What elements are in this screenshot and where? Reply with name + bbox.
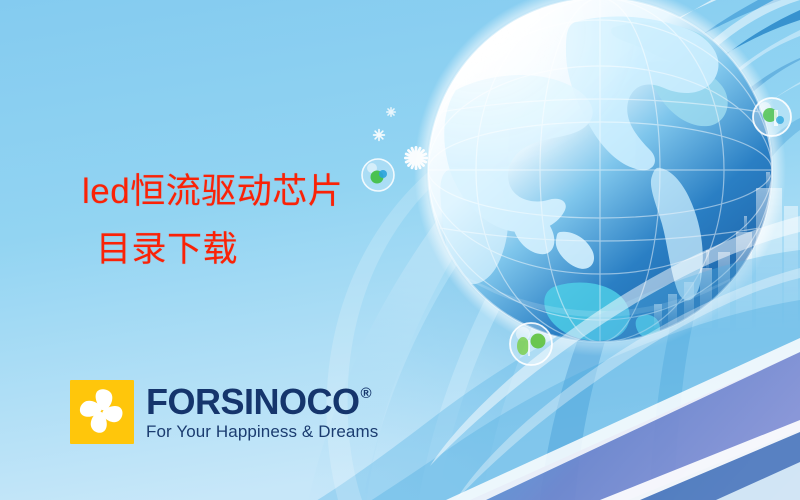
logo-pinwheel-icon: [70, 380, 134, 444]
bubble-globe-left: [362, 159, 394, 191]
brand-name-text: FORSINOCO: [146, 384, 360, 420]
headline-line-1: led恒流驱动芯片: [82, 163, 343, 221]
brand-name: FORSINOCO ®: [146, 384, 378, 420]
registered-trademark-icon: ®: [361, 386, 372, 401]
headline-line-2: 目录下载: [82, 221, 343, 279]
banner-canvas: led恒流驱动芯片 目录下载 FORSINOCO ® For Your Happ…: [0, 0, 800, 500]
company-logo[interactable]: FORSINOCO ® For Your Happiness & Dreams: [70, 380, 378, 444]
bubble-globe-right: [753, 98, 791, 136]
brand-tagline: For Your Happiness & Dreams: [146, 423, 378, 440]
logo-wordmark: FORSINOCO ® For Your Happiness & Dreams: [146, 384, 378, 440]
bubble-leaf-center: [510, 323, 552, 365]
headline-text: led恒流驱动芯片 目录下载: [82, 163, 343, 279]
